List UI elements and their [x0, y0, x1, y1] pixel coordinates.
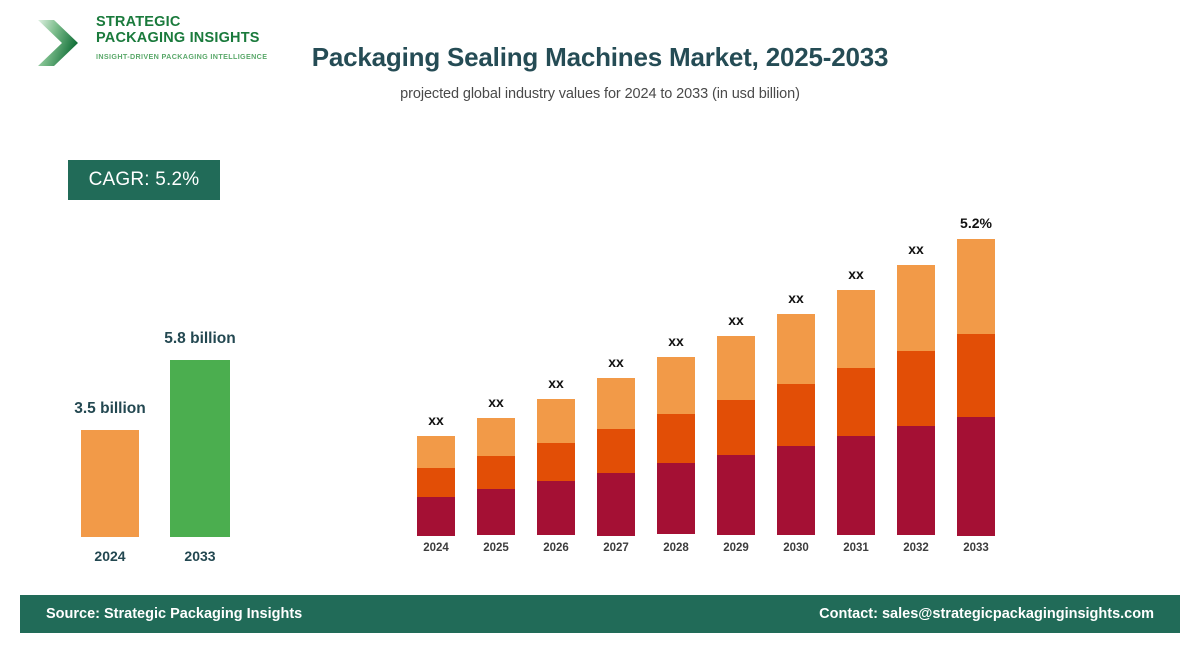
forecast-stacked-chart: xx2024xx2025xx2026xx2027xx2028xx2029xx20… — [400, 0, 1020, 650]
stacked-segment-segment-middle-2028 — [657, 414, 695, 463]
comparison-bar-fill — [81, 430, 139, 537]
stacked-segment-segment-middle-2030 — [777, 384, 815, 446]
stacked-segment-segment-top-2027 — [597, 378, 635, 429]
stacked-value-label-2028: xx — [641, 333, 711, 349]
stacked-segment-segment-middle-2031 — [837, 368, 875, 436]
stacked-segment-segment-middle-2024 — [417, 468, 455, 497]
stacked-value-label-2030: xx — [761, 290, 831, 306]
stacked-bar-2025 — [477, 418, 515, 535]
footer-contact[interactable]: Contact: sales@strategicpackaginginsight… — [819, 606, 1154, 622]
stacked-segment-segment-middle-2029 — [717, 400, 755, 455]
stacked-segment-segment-top-2028 — [657, 357, 695, 414]
stacked-segment-segment-middle-2026 — [537, 443, 575, 481]
stacked-bar-2027 — [597, 378, 635, 535]
footer-bar: Source: Strategic Packaging Insights Con… — [20, 595, 1180, 633]
stacked-segment-segment-top-2032 — [897, 265, 935, 351]
stacked-bar-2026 — [537, 399, 575, 535]
stacked-value-label-2031: xx — [821, 266, 891, 282]
stacked-value-label-2033: 5.2% — [941, 215, 1011, 231]
stacked-bar-2028 — [657, 357, 695, 535]
comparison-year-label-2033: 2033 — [140, 548, 260, 564]
stacked-segment-segment-middle-2025 — [477, 456, 515, 489]
stacked-segment-segment-top-2030 — [777, 314, 815, 384]
stacked-segment-segment-bottom-2024 — [417, 497, 455, 536]
footer-source: Source: Strategic Packaging Insights — [46, 606, 302, 622]
stacked-segment-segment-bottom-2032 — [897, 426, 935, 535]
stacked-bar-2029 — [717, 336, 755, 535]
stacked-segment-segment-bottom-2029 — [717, 455, 755, 535]
stacked-segment-segment-middle-2033 — [957, 334, 995, 417]
stacked-segment-segment-top-2031 — [837, 290, 875, 368]
stacked-bar-2032 — [897, 265, 935, 535]
stacked-segment-segment-bottom-2027 — [597, 473, 635, 536]
stacked-segment-segment-bottom-2031 — [837, 436, 875, 535]
stacked-value-label-2025: xx — [461, 394, 531, 410]
comparison-bar-2024 — [81, 430, 139, 537]
stacked-value-label-2032: xx — [881, 241, 951, 257]
stacked-segment-segment-middle-2027 — [597, 429, 635, 473]
stacked-bar-2033 — [957, 239, 995, 535]
stacked-bar-2024 — [417, 436, 455, 535]
stacked-segment-segment-bottom-2025 — [477, 489, 515, 535]
stacked-segment-segment-bottom-2030 — [777, 446, 815, 535]
stacked-value-label-2029: xx — [701, 312, 771, 328]
stacked-value-label-2026: xx — [521, 375, 591, 391]
stacked-segment-segment-bottom-2026 — [537, 481, 575, 535]
stacked-segment-segment-top-2024 — [417, 436, 455, 468]
stacked-bar-2030 — [777, 314, 815, 535]
stacked-segment-segment-top-2029 — [717, 336, 755, 400]
stacked-segment-segment-bottom-2028 — [657, 463, 695, 534]
comparison-chart: 3.5 billion20245.8 billion2033 — [0, 0, 320, 650]
comparison-value-label-2033: 5.8 billion — [100, 330, 300, 348]
infographic-canvas: STRATEGIC PACKAGING INSIGHTS INSIGHT-DRI… — [0, 0, 1200, 650]
stacked-bar-2031 — [837, 290, 875, 535]
stacked-segment-segment-top-2026 — [537, 399, 575, 443]
stacked-value-label-2027: xx — [581, 354, 651, 370]
stacked-segment-segment-top-2025 — [477, 418, 515, 456]
stacked-segment-segment-top-2033 — [957, 239, 995, 334]
comparison-bar-fill — [170, 360, 230, 537]
stacked-segment-segment-bottom-2033 — [957, 417, 995, 536]
stacked-year-label-2033: 2033 — [941, 542, 1011, 554]
comparison-bar-2033 — [170, 360, 230, 537]
stacked-segment-segment-middle-2032 — [897, 351, 935, 426]
stacked-value-label-2024: xx — [401, 412, 471, 428]
